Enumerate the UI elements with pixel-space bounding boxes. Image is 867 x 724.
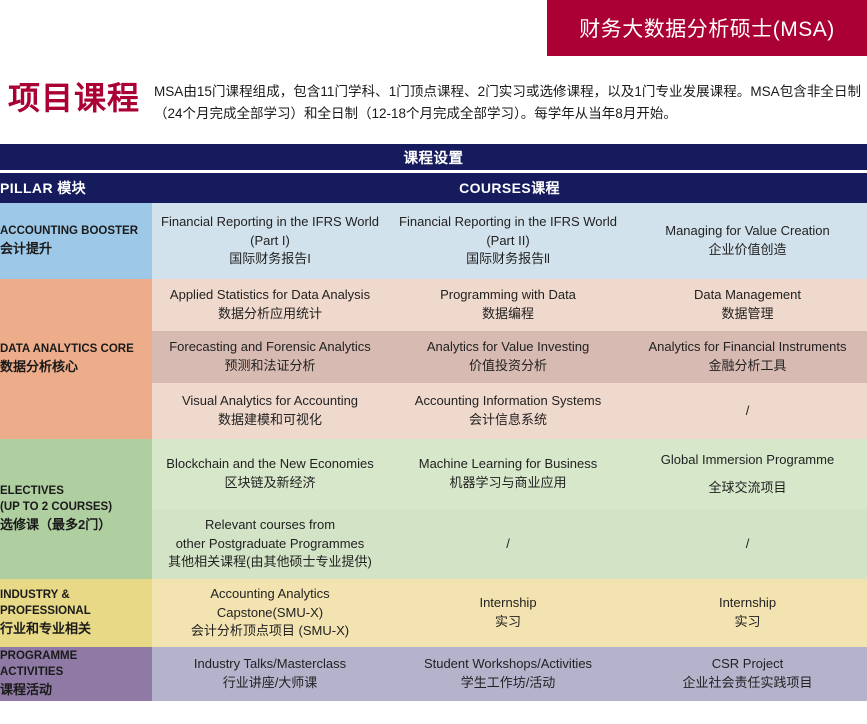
course-cell: Financial Reporting in the IFRS World (P… bbox=[388, 203, 628, 279]
course-name-en: Global Immersion Programme bbox=[661, 452, 834, 467]
course-cell: Global Immersion Programme 全球交流项目 bbox=[628, 439, 867, 509]
course-name-en: Accounting Analytics bbox=[210, 586, 329, 601]
course-name-en: Blockchain and the New Economies bbox=[166, 456, 373, 471]
course-cell: Industry Talks/Masterclass 行业讲座/大师课 bbox=[152, 647, 388, 701]
pillar-label-en-line2: (UP TO 2 COURSES) bbox=[0, 501, 112, 513]
table-row: DATA ANALYTICS CORE 数据分析核心 Applied Stati… bbox=[0, 279, 867, 331]
course-name-cn: 全球交流项目 bbox=[628, 479, 867, 498]
pillar-cell-data-analytics-core: DATA ANALYTICS CORE 数据分析核心 bbox=[0, 279, 152, 439]
course-cell: CSR Project 企业社会责任实践项目 bbox=[628, 647, 867, 701]
course-name-en: Analytics for Financial Instruments bbox=[649, 339, 847, 354]
table-title: 课程设置 bbox=[0, 144, 867, 170]
curriculum-table: 课程设置 PILLAR 模块 COURSES课程 ACCOUNTING BOOS… bbox=[0, 144, 867, 701]
intro-description: MSA由15门课程组成，包含11门学科、1门顶点课程、2门实习或选修课程，以及1… bbox=[154, 78, 861, 126]
table-row: PROGRAMME ACTIVITIES 课程活动 Industry Talks… bbox=[0, 647, 867, 701]
course-cell: Relevant courses from other Postgraduate… bbox=[152, 509, 388, 579]
course-name-en: Managing for Value Creation bbox=[665, 223, 830, 238]
course-name-en: Machine Learning for Business bbox=[419, 456, 598, 471]
table-row: ACCOUNTING BOOSTER 会计提升 Financial Report… bbox=[0, 203, 867, 279]
table-row: INDUSTRY & PROFESSIONAL 行业和专业相关 Accounti… bbox=[0, 579, 867, 647]
course-name-cn: 数据编程 bbox=[388, 305, 628, 324]
course-name-en: / bbox=[746, 536, 750, 551]
course-name-en: / bbox=[746, 403, 750, 418]
pillar-label-cn: 会计提升 bbox=[0, 240, 152, 258]
pillar-label-en-line1: INDUSTRY & bbox=[0, 589, 70, 601]
spacer bbox=[628, 470, 867, 479]
course-cell-empty: / bbox=[628, 509, 867, 579]
intro-section: 项目课程 MSA由15门课程组成，包含11门学科、1门顶点课程、2门实习或选修课… bbox=[0, 56, 867, 144]
course-cell: Forecasting and Forensic Analytics 预测和法证… bbox=[152, 331, 388, 383]
column-header-courses: COURSES课程 bbox=[152, 173, 867, 203]
course-name-cn: 金融分析工具 bbox=[628, 357, 867, 376]
top-banner-row: 财务大数据分析硕士(MSA) bbox=[0, 0, 867, 56]
course-name-cn: 会计信息系统 bbox=[388, 411, 628, 430]
course-cell: Financial Reporting in the IFRS World (P… bbox=[152, 203, 388, 279]
course-cell: Analytics for Financial Instruments 金融分析… bbox=[628, 331, 867, 383]
course-cell: Machine Learning for Business 机器学习与商业应用 bbox=[388, 439, 628, 509]
pillar-cell-industry-professional: INDUSTRY & PROFESSIONAL 行业和专业相关 bbox=[0, 579, 152, 647]
course-cell: Internship 实习 bbox=[388, 579, 628, 647]
course-name-cn: 国际财务报告I bbox=[152, 250, 388, 269]
column-header-pillar: PILLAR 模块 bbox=[0, 173, 152, 203]
course-name-cn: 实习 bbox=[388, 613, 628, 632]
pillar-label-en-line1: PROGRAMME bbox=[0, 650, 77, 662]
course-name-cn: 预测和法证分析 bbox=[152, 357, 388, 376]
course-cell: Accounting Analytics Capstone(SMU-X) 会计分… bbox=[152, 579, 388, 647]
table-body: ACCOUNTING BOOSTER 会计提升 Financial Report… bbox=[0, 203, 867, 701]
course-name-en: Internship bbox=[719, 595, 776, 610]
course-name-cn: 实习 bbox=[628, 613, 867, 632]
course-cell: Student Workshops/Activities 学生工作坊/活动 bbox=[388, 647, 628, 701]
course-name-cn: 企业社会责任实践项目 bbox=[628, 674, 867, 693]
course-name-en: Data Management bbox=[694, 287, 801, 302]
course-name-en-2: other Postgraduate Programmes bbox=[152, 535, 388, 554]
course-cell: Analytics for Value Investing 价值投资分析 bbox=[388, 331, 628, 383]
course-name-cn: 区块链及新经济 bbox=[152, 474, 388, 493]
course-cell: Internship 实习 bbox=[628, 579, 867, 647]
course-cell-empty: / bbox=[388, 509, 628, 579]
course-name-en: Applied Statistics for Data Analysis bbox=[170, 287, 370, 302]
course-name-en: Visual Analytics for Accounting bbox=[182, 393, 358, 408]
pillar-label-en-line2: PROFESSIONAL bbox=[0, 605, 91, 617]
course-name-en: Analytics for Value Investing bbox=[427, 339, 589, 354]
course-name-en: Accounting Information Systems bbox=[415, 393, 601, 408]
course-cell: Managing for Value Creation 企业价值创造 bbox=[628, 203, 867, 279]
course-cell: Visual Analytics for Accounting 数据建模和可视化 bbox=[152, 383, 388, 439]
table-header-main-row: 课程设置 bbox=[0, 144, 867, 170]
pillar-cell-accounting-booster: ACCOUNTING BOOSTER 会计提升 bbox=[0, 203, 152, 279]
course-cell: Accounting Information Systems 会计信息系统 bbox=[388, 383, 628, 439]
pillar-label-cn: 数据分析核心 bbox=[0, 358, 152, 376]
course-name-cn: 数据分析应用统计 bbox=[152, 305, 388, 324]
course-name-en: / bbox=[506, 536, 510, 551]
course-cell: Applied Statistics for Data Analysis 数据分… bbox=[152, 279, 388, 331]
table-header: 课程设置 PILLAR 模块 COURSES课程 bbox=[0, 144, 867, 203]
course-name-en-2: (Part II) bbox=[388, 232, 628, 251]
course-name-cn: 价值投资分析 bbox=[388, 357, 628, 376]
pillar-cell-programme-activities: PROGRAMME ACTIVITIES 课程活动 bbox=[0, 647, 152, 701]
pillar-label-cn: 行业和专业相关 bbox=[0, 620, 152, 638]
pillar-label-cn: 课程活动 bbox=[0, 681, 152, 699]
pillar-label-en-line1: ELECTIVES bbox=[0, 485, 64, 497]
course-cell: Programming with Data 数据编程 bbox=[388, 279, 628, 331]
course-name-en-2: (Part I) bbox=[152, 232, 388, 251]
table-header-sub-row: PILLAR 模块 COURSES课程 bbox=[0, 173, 867, 203]
pillar-cell-electives: ELECTIVES (UP TO 2 COURSES) 选修课（最多2门） bbox=[0, 439, 152, 579]
course-cell-empty: / bbox=[628, 383, 867, 439]
course-name-cn: 其他相关课程(由其他硕士专业提供) bbox=[152, 553, 388, 572]
course-name-cn: 学生工作坊/活动 bbox=[388, 674, 628, 693]
course-name-en-2: Capstone(SMU-X) bbox=[152, 604, 388, 623]
course-cell: Blockchain and the New Economies 区块链及新经济 bbox=[152, 439, 388, 509]
pillar-label-en-line2: ACTIVITIES bbox=[0, 666, 63, 678]
course-name-en: Programming with Data bbox=[440, 287, 576, 302]
course-name-cn: 数据建模和可视化 bbox=[152, 411, 388, 430]
course-name-en: Forecasting and Forensic Analytics bbox=[169, 339, 371, 354]
course-name-cn: 国际财务报告ll bbox=[388, 250, 628, 269]
table-row: ELECTIVES (UP TO 2 COURSES) 选修课（最多2门） Bl… bbox=[0, 439, 867, 509]
pillar-label-en: DATA ANALYTICS CORE bbox=[0, 343, 134, 355]
course-name-en: Financial Reporting in the IFRS World bbox=[399, 214, 617, 229]
course-name-en: Financial Reporting in the IFRS World bbox=[161, 214, 379, 229]
pillar-label-en-line1: ACCOUNTING BOOSTER bbox=[0, 225, 138, 237]
course-name-cn: 数据管理 bbox=[628, 305, 867, 324]
pillar-label-cn: 选修课（最多2门） bbox=[0, 516, 152, 534]
course-name-cn: 机器学习与商业应用 bbox=[388, 474, 628, 493]
programme-title-banner: 财务大数据分析硕士(MSA) bbox=[547, 0, 867, 56]
course-name-cn: 行业讲座/大师课 bbox=[152, 674, 388, 693]
course-name-en: Relevant courses from bbox=[205, 517, 335, 532]
course-name-cn: 会计分析顶点项目 (SMU-X) bbox=[152, 622, 388, 641]
course-name-en: Internship bbox=[479, 595, 536, 610]
course-name-en: Industry Talks/Masterclass bbox=[194, 656, 346, 671]
course-cell: Data Management 数据管理 bbox=[628, 279, 867, 331]
course-name-en: Student Workshops/Activities bbox=[424, 656, 592, 671]
course-name-en: CSR Project bbox=[712, 656, 784, 671]
page-title: 项目课程 bbox=[6, 78, 154, 118]
course-name-cn: 企业价值创造 bbox=[628, 241, 867, 260]
